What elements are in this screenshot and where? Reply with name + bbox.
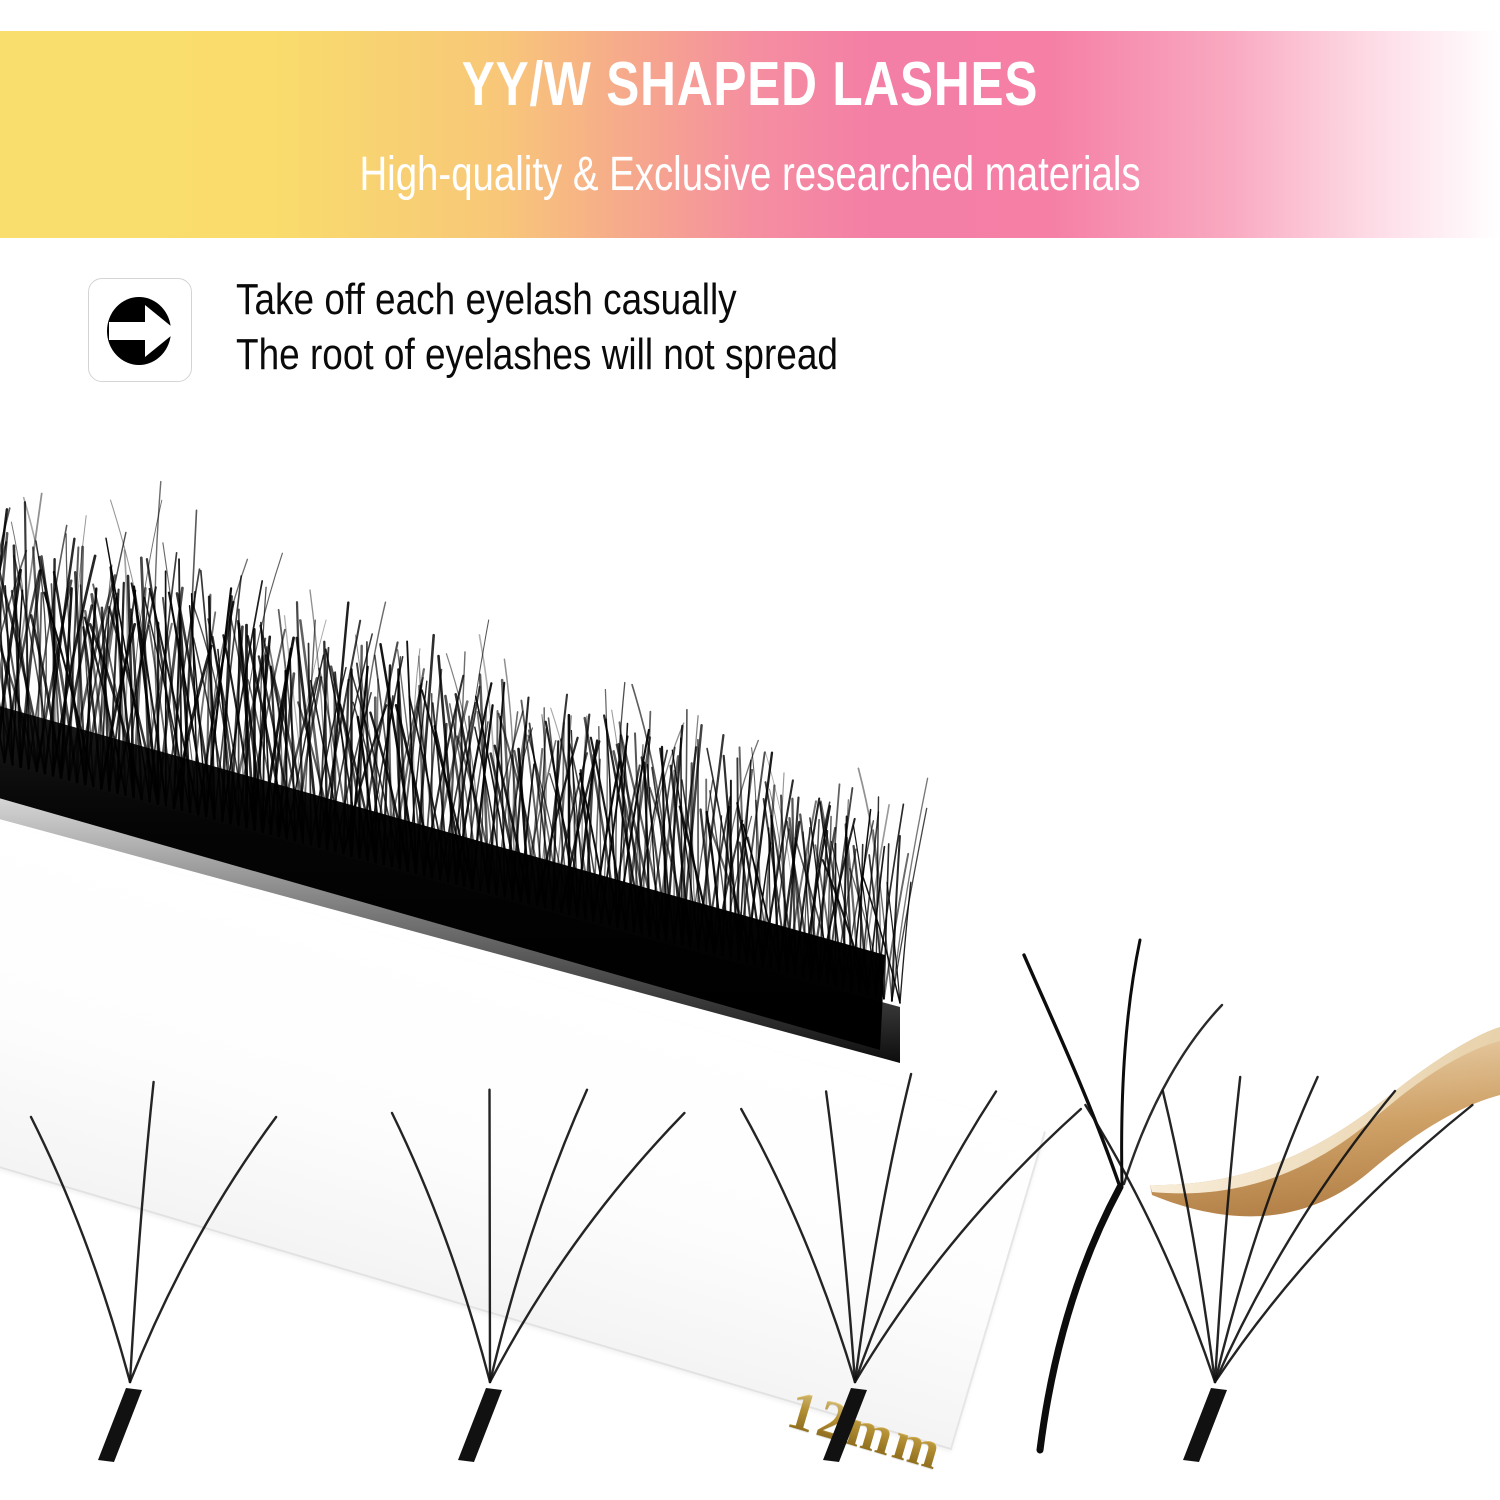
- fan-5-prong: [741, 1074, 1081, 1462]
- fan-4-prong: [392, 1090, 684, 1462]
- fan-3-prong: [31, 1082, 276, 1462]
- instruction-icon-box: [88, 278, 192, 382]
- instruction-line-2: The root of eyelashes will not spread: [236, 327, 1227, 382]
- arrow-right-circle-icon: [101, 291, 181, 371]
- instruction-line-1: Take off each eyelash casually: [236, 272, 1227, 327]
- page-subtitle: High-quality & Exclusive researched mate…: [150, 147, 1350, 203]
- instruction-block: Take off each eyelash casually The root …: [88, 272, 1428, 392]
- header-banner: YY/W SHAPED LASHES High-quality & Exclus…: [0, 31, 1500, 238]
- fan-sample-row: [0, 395, 1500, 1500]
- product-photo: 12mm: [0, 395, 1500, 1500]
- page-title: YY/W SHAPED LASHES: [150, 49, 1350, 121]
- fan-6-prong: [1085, 1077, 1472, 1462]
- instruction-text: Take off each eyelash casually The root …: [236, 272, 1416, 382]
